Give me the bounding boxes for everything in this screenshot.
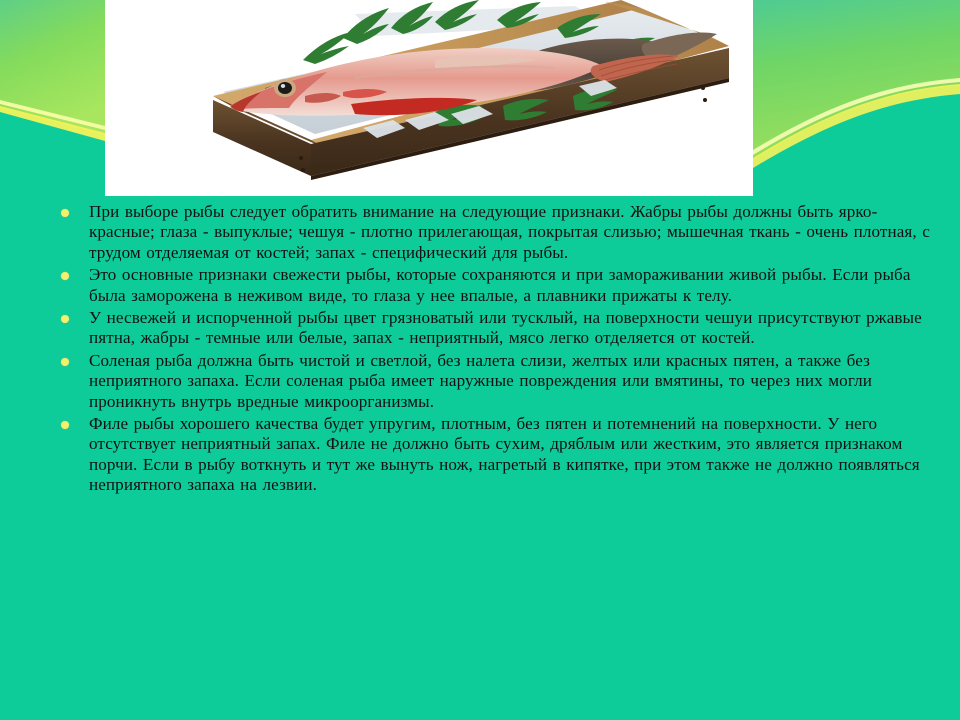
list-item: Филе рыбы хорошего качества будет упруги… [52,414,932,496]
left-teal-fill [0,112,105,196]
bullet-text-fresh-fish-signs: При выборе рыбы следует обратить внимани… [89,202,932,263]
crate-nail-right-lower [703,98,707,102]
fish-photo-illustration [105,0,753,196]
bullet-dot-icon [61,209,69,217]
right-yellow-streak [753,84,960,170]
right-yellow-highlight-upper [753,78,960,155]
left-yellow-streak [0,106,105,148]
list-item: Это основные признаки свежести рыбы, кот… [52,265,932,306]
bullet-text-spoiled-fish-signs: У несвежей и испорченной рыбы цвет грязн… [89,308,932,349]
fish-eye-pupil [278,82,292,94]
bullet-dot-icon [61,421,69,429]
bullet-dot-icon [61,358,69,366]
left-green-wedge [0,0,105,135]
bullet-text-freezing-signs: Это основные признаки свежести рыбы, кот… [89,265,932,306]
bullet-dot-icon [61,315,69,323]
list-item: У несвежей и испорченной рыбы цвет грязн… [52,308,932,349]
fish-eye-glint [281,84,285,88]
list-item: При выборе рыбы следует обратить внимани… [52,202,932,263]
bullet-text-salted-fish: Соленая рыба должна быть чистой и светло… [89,351,932,412]
fish-photo-panel [105,0,753,196]
list-item: Соленая рыба должна быть чистой и светло… [52,351,932,412]
bullet-dot-icon [61,272,69,280]
crate-nail-right [701,86,705,90]
crate-nail-left [299,156,303,160]
left-yellow-highlight [0,100,105,130]
right-green-band [753,0,960,160]
presentation-slide: При выборе рыбы следует обратить внимани… [0,0,960,720]
crate-nail-left-lower [301,168,305,172]
slide-body-text: При выборе рыбы следует обратить внимани… [52,202,932,498]
bullet-text-fish-fillet: Филе рыбы хорошего качества будет упруги… [89,414,932,496]
